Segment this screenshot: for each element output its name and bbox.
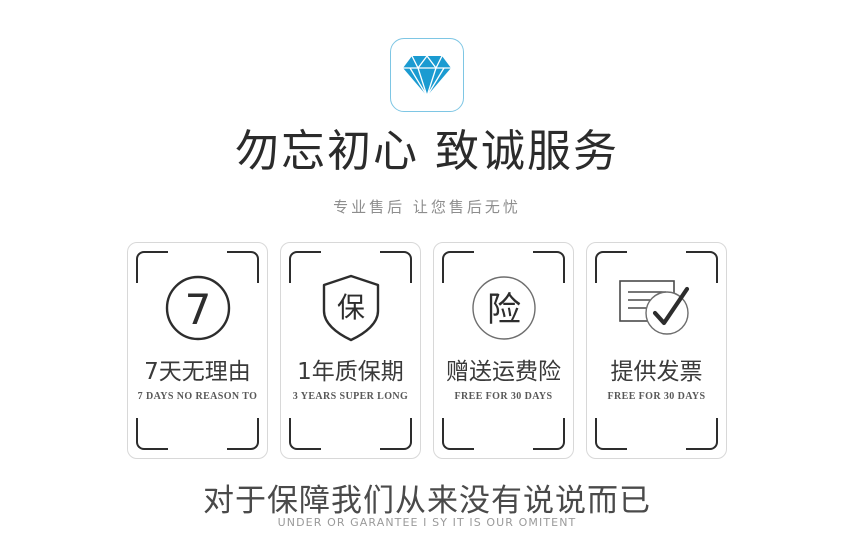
brand-logo-box (390, 38, 464, 112)
card-title: 7天无理由 (128, 357, 267, 387)
card-subtitle: 3 YEARS SUPER LONG (281, 390, 420, 404)
corner-bracket-bottom-left (595, 418, 627, 450)
guarantee-card-7-days: 7 7天无理由 7 DAYS NO REASON TO (127, 242, 268, 459)
card-subtitle: FREE FOR 30 DAYS (434, 390, 573, 404)
service-guarantee-banner: 勿忘初心 致诚服务 专业售后 让您售后无忧 7 7天无理由 7 DAYS NO … (0, 0, 854, 546)
page-subtitle: 专业售后 让您售后无忧 (0, 197, 854, 217)
page-title: 勿忘初心 致诚服务 (0, 124, 854, 180)
guarantee-card-warranty: 保 1年质保期 3 YEARS SUPER LONG (280, 242, 421, 459)
brand-logo-area (0, 38, 854, 112)
corner-bracket-bottom-left (289, 418, 321, 450)
svg-text:保: 保 (336, 291, 364, 324)
card-subtitle: FREE FOR 30 DAYS (587, 390, 726, 404)
corner-bracket-bottom-right (533, 418, 565, 450)
guarantee-card-shipping-insurance: 险 赠送运费险 FREE FOR 30 DAYS (433, 242, 574, 459)
corner-bracket-bottom-right (227, 418, 259, 450)
corner-bracket-bottom-right (380, 418, 412, 450)
card-subtitle: 7 DAYS NO REASON TO (128, 390, 267, 404)
diamond-icon (402, 53, 452, 97)
card-title: 提供发票 (587, 357, 726, 387)
svg-text:险: 险 (487, 290, 521, 330)
corner-bracket-bottom-left (136, 418, 168, 450)
circle-seven-icon: 7 (128, 265, 267, 351)
guarantee-card-list: 7 7天无理由 7 DAYS NO REASON TO 保 1年质保期 3 YE… (0, 242, 854, 459)
shield-bao-icon: 保 (281, 265, 420, 351)
card-title: 1年质保期 (281, 357, 420, 387)
footer-slogan-english: UNDER OR GARANTEE I SY IT IS OUR OMITENT (0, 515, 854, 531)
corner-bracket-bottom-left (442, 418, 474, 450)
invoice-check-icon (587, 265, 726, 351)
corner-bracket-bottom-right (686, 418, 718, 450)
guarantee-card-invoice: 提供发票 FREE FOR 30 DAYS (586, 242, 727, 459)
card-title: 赠送运费险 (434, 357, 573, 387)
svg-text:7: 7 (184, 285, 211, 334)
circle-xian-icon: 险 (434, 265, 573, 351)
